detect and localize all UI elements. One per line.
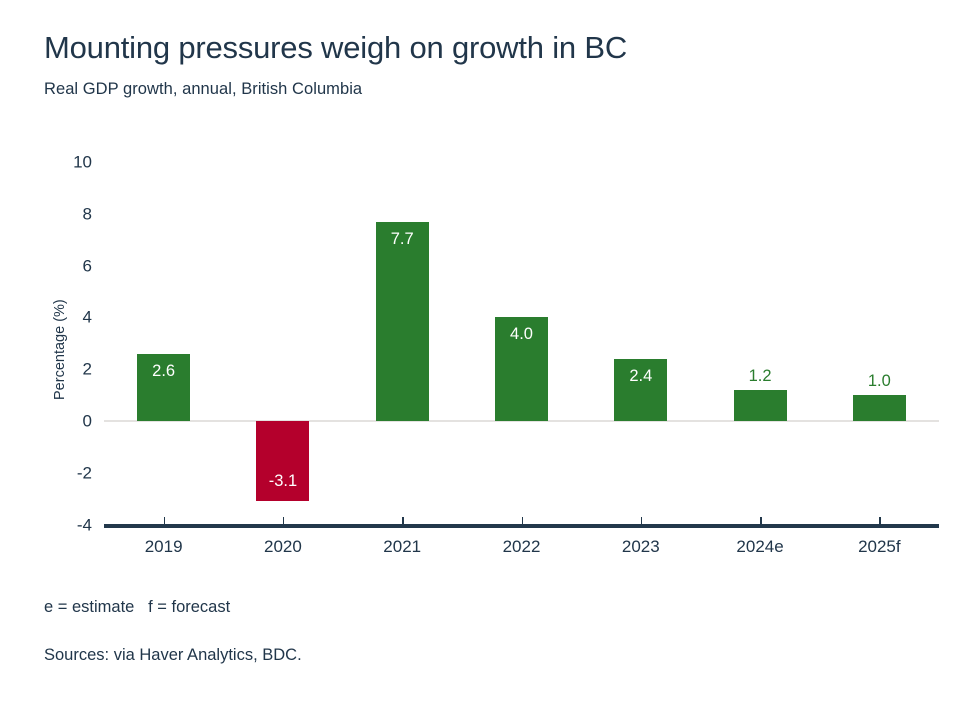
x-axis-line (104, 524, 939, 528)
x-axis-tick-mark (164, 517, 166, 524)
x-axis-tick-label-2025f: 2025f (858, 537, 901, 557)
x-axis-tick-mark (641, 517, 643, 524)
bar-value-label-2025f: 1.0 (853, 373, 906, 390)
bar-2019[interactable]: 2.6 (137, 354, 190, 421)
y-axis-tick-label: 10 (52, 154, 92, 171)
x-axis-tick-label-2023: 2023 (622, 537, 660, 557)
y-axis-tick-label: 6 (52, 257, 92, 274)
bar-value-label-2023: 2.4 (614, 368, 667, 385)
bar-value-label-2020: -3.1 (256, 473, 309, 490)
x-axis-tick-label-2021: 2021 (383, 537, 421, 557)
bar-2024e[interactable] (734, 390, 787, 421)
bar-value-label-2024e: 1.2 (734, 368, 787, 385)
y-axis-tick-label: -2 (52, 464, 92, 481)
x-axis-tick-mark (760, 517, 762, 524)
x-axis-tick-mark (283, 517, 285, 524)
bar-2022[interactable]: 4.0 (495, 317, 548, 421)
x-axis-tick-mark (522, 517, 524, 524)
y-axis-tick-label: 0 (52, 413, 92, 430)
bar-2021[interactable]: 7.7 (376, 222, 429, 421)
footnotes: e = estimate f = forecast Sources: via H… (44, 598, 924, 665)
x-axis-tick-label-2019: 2019 (145, 537, 183, 557)
bar-2023[interactable]: 2.4 (614, 359, 667, 421)
y-axis-tick-label: 2 (52, 361, 92, 378)
bar-value-label-2022: 4.0 (495, 326, 548, 343)
x-axis-tick-label-2020: 2020 (264, 537, 302, 557)
sources-note: Sources: via Haver Analytics, BDC. (44, 646, 924, 665)
y-axis-tick-label: 8 (52, 205, 92, 222)
x-axis-tick-mark (402, 517, 404, 524)
bar-2020[interactable]: -3.1 (256, 421, 309, 501)
x-axis-tick-label-2022: 2022 (503, 537, 541, 557)
y-axis-tick-label: 4 (52, 309, 92, 326)
bar-value-label-2019: 2.6 (137, 363, 190, 380)
bar-2025f[interactable] (853, 395, 906, 421)
x-axis-tick-label-2024e: 2024e (736, 537, 783, 557)
bar-value-label-2021: 7.7 (376, 231, 429, 248)
estimate-forecast-note: e = estimate f = forecast (44, 598, 924, 617)
x-axis-tick-mark (879, 517, 881, 524)
y-axis-tick-label: -4 (52, 516, 92, 533)
